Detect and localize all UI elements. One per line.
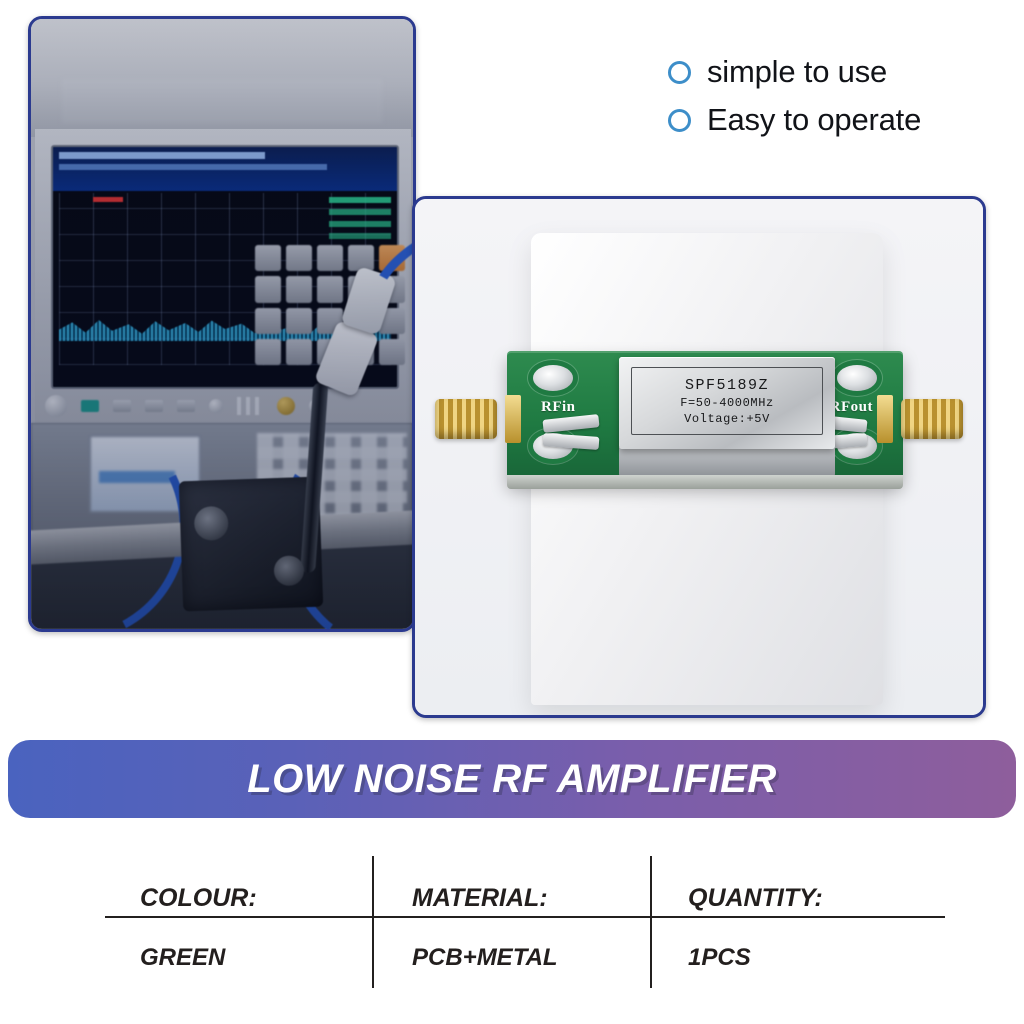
sma-connector-output [871, 395, 963, 443]
screen-readout-block [329, 197, 391, 249]
spec-header-material: MATERIAL: [412, 884, 548, 913]
instrument-top-bezel [31, 19, 413, 137]
specs-divider [372, 856, 374, 988]
silkscreen-rfout: RFout [830, 399, 873, 416]
bnc-connector-icon [277, 397, 295, 415]
spec-header-colour: COLOUR: [140, 884, 257, 913]
amplifier-pcb: RFin RFout SPF5189Z F=50-4000MHz Voltage… [507, 351, 903, 483]
panel-button-icon [113, 400, 131, 412]
sma-flange-icon [505, 395, 521, 443]
lower-bench-area [31, 423, 413, 629]
spec-header-quantity: QUANTITY: [688, 884, 823, 913]
screen-header-bar [53, 147, 397, 191]
frequency-range-text: F=50-4000MHz [680, 396, 774, 410]
solder-joint-icon [542, 414, 599, 433]
sma-barrel-icon [435, 399, 497, 439]
product-scene: RFin RFout SPF5189Z F=50-4000MHz Voltage… [415, 199, 983, 715]
sma-connector-input [435, 395, 527, 443]
small-knob-icon [209, 399, 223, 413]
product-title-banner: LOW NOISE RF AMPLIFIER [8, 740, 1016, 818]
feature-item: Easy to operate [668, 102, 1008, 138]
lab-photo-panel [28, 16, 416, 632]
shield-can-skirt [619, 447, 835, 477]
part-number-text: SPF5189Z [685, 377, 769, 394]
sma-flange-icon [877, 395, 893, 443]
silkscreen-rfin: RFin [541, 399, 576, 416]
panel-button-icon [145, 400, 163, 412]
panel-button-icon [177, 400, 195, 412]
shield-can-label: SPF5189Z F=50-4000MHz Voltage:+5V [631, 367, 823, 435]
product-listing-image: RFin RFout SPF5189Z F=50-4000MHz Voltage… [0, 0, 1024, 1024]
specs-horizontal-rule [105, 916, 945, 918]
specs-divider [650, 856, 652, 988]
feature-label: simple to use [707, 54, 887, 90]
product-title: LOW NOISE RF AMPLIFIER [247, 757, 777, 802]
rotary-knob-icon [45, 395, 67, 417]
mounting-hole-icon [533, 365, 573, 391]
ring-bullet-icon [668, 61, 691, 84]
spec-value-material: PCB+METAL [412, 944, 558, 972]
pcb-bottom-edge [507, 475, 903, 489]
voltage-text: Voltage:+5V [684, 412, 770, 426]
spec-value-quantity: 1PCS [688, 944, 751, 972]
sma-barrel-icon [901, 399, 963, 439]
probe-fixture [179, 477, 323, 612]
feature-label: Easy to operate [707, 102, 921, 138]
spec-value-colour: GREEN [140, 944, 225, 972]
teal-button-icon [81, 400, 99, 412]
lab-scene [31, 19, 413, 629]
feature-list: simple to use Easy to operate [668, 54, 1008, 150]
mounting-hole-icon [837, 365, 877, 391]
ring-bullet-icon [668, 109, 691, 132]
product-photo-panel: RFin RFout SPF5189Z F=50-4000MHz Voltage… [412, 196, 986, 718]
screen-marker-icon [93, 197, 123, 202]
slider-bars-icon [237, 397, 263, 415]
specs-table: COLOUR: GREEN MATERIAL: PCB+METAL QUANTI… [0, 856, 1024, 1006]
feature-item: simple to use [668, 54, 1008, 90]
shield-can: SPF5189Z F=50-4000MHz Voltage:+5V [619, 357, 835, 449]
